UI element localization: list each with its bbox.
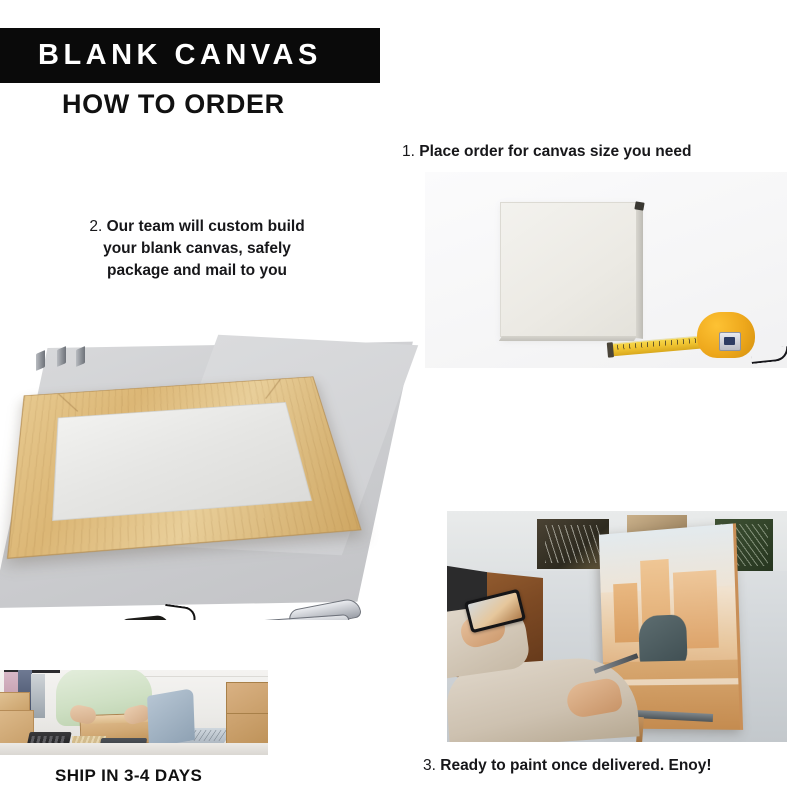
laptop-computer <box>148 692 222 748</box>
photo-packing-desk <box>0 670 268 755</box>
step-2-text-line2: your blank canvas, safely <box>52 238 342 260</box>
canvas-bottom-edge <box>499 336 637 341</box>
step-3-text: Ready to paint once delivered. Enoy! <box>440 757 711 774</box>
ship-time-label: SHIP IN 3-4 DAYS <box>55 766 202 786</box>
step-2-text-line3: package and mail to you <box>52 260 342 282</box>
canvas-corner-shadow <box>634 201 644 210</box>
photo-blank-canvas <box>425 172 787 368</box>
painting-building-1 <box>613 583 639 643</box>
shelf-box-seam <box>227 713 268 714</box>
tape-measure-window <box>719 332 741 351</box>
step-2-text-line1: Our team will custom build <box>107 218 305 235</box>
step-3-number: 3. <box>423 757 436 774</box>
small-tape-measure-cord <box>163 604 197 620</box>
brand-title: BLANK CANVAS <box>38 41 322 70</box>
photo-stretcher-frame <box>0 300 445 620</box>
laptop-screen <box>147 688 195 748</box>
wooden-stretcher-frame <box>7 376 362 559</box>
step-2-line-1: 2. Our team will custom build <box>52 216 342 238</box>
step-1-caption: 1. Place order for canvas size you need <box>402 141 691 163</box>
photo-artist-painting <box>447 511 787 742</box>
shelf-cardboard-box <box>226 682 268 746</box>
canvas-right-edge <box>636 205 643 339</box>
brand-title-bar: BLANK CANVAS <box>0 28 380 83</box>
tape-measure-hook <box>607 342 614 357</box>
step-1-text: Place order for canvas size you need <box>419 143 691 160</box>
step-2-caption: 2. Our team will custom build your blank… <box>52 216 342 282</box>
desk-surface <box>0 743 268 755</box>
step-3-caption: 3. Ready to paint once delivered. Enoy! <box>423 755 712 777</box>
blank-canvas-square <box>500 202 637 337</box>
shelf-edge-line <box>140 676 268 677</box>
page-subtitle: HOW TO ORDER <box>62 89 285 120</box>
step-2-number: 2. <box>89 218 102 235</box>
infographic-page: BLANK CANVAS HOW TO ORDER 1. Place order… <box>0 0 800 800</box>
step-1-number: 1. <box>402 143 415 160</box>
